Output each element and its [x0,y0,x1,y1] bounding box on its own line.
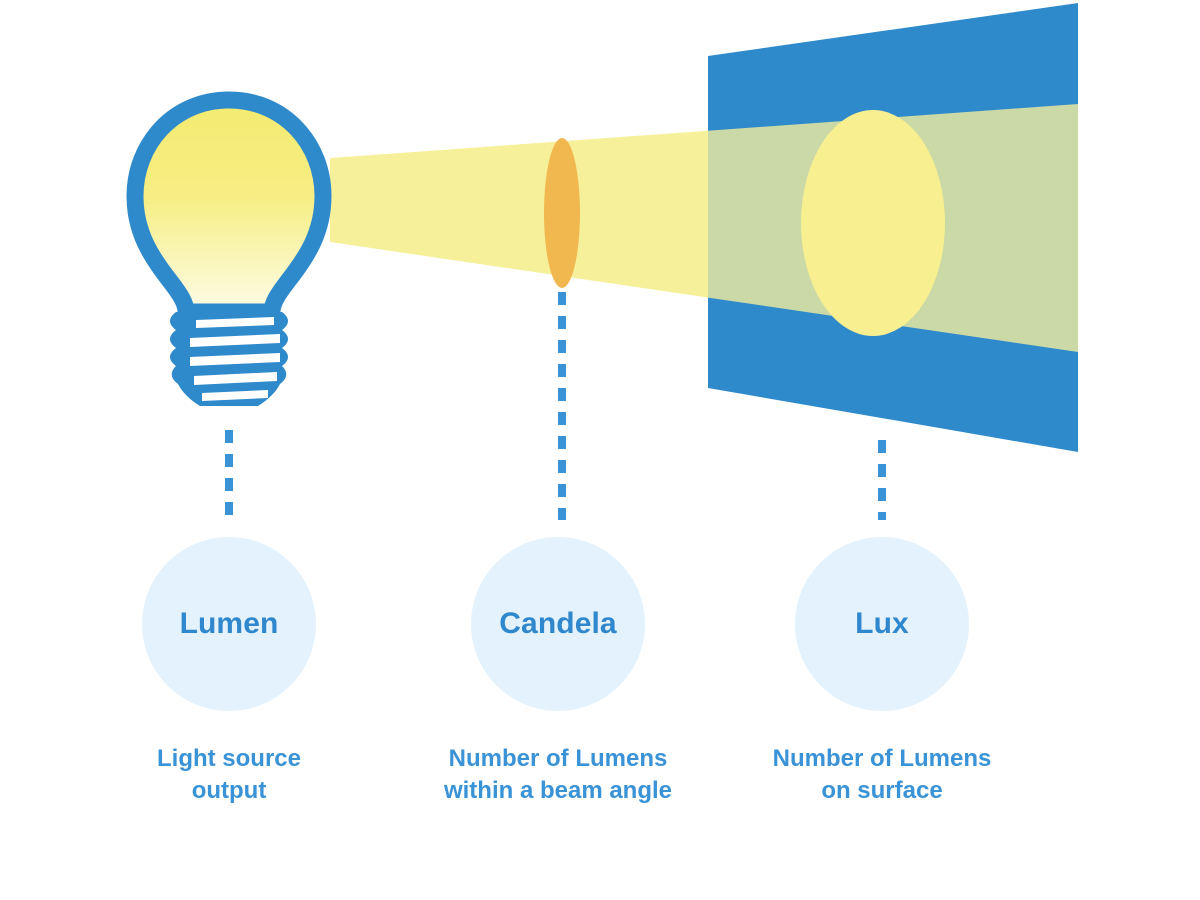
label-group-lumen: Lumen Light source output [79,537,379,806]
caption-line: Number of Lumens [732,743,1032,775]
badge-title-lumen: Lumen [180,609,279,639]
badge-title-lux: Lux [855,609,909,639]
badge-title-candela: Candela [499,609,616,639]
caption-line: Number of Lumens [408,743,708,775]
label-group-lux: Lux Number of Lumens on surface [732,537,1032,806]
diagram-canvas: Lumen Light source output Candela Number… [0,0,1200,900]
caption-lumen: Light source output [79,743,379,806]
caption-candela: Number of Lumens within a beam angle [408,743,708,806]
caption-lux: Number of Lumens on surface [732,743,1032,806]
caption-line: Light source [79,743,379,775]
candela-cross-section [544,138,580,288]
light-bulb [120,90,340,406]
caption-line: output [79,775,379,807]
badge-circle-candela[interactable]: Candela [471,537,645,711]
badge-circle-lumen[interactable]: Lumen [142,537,316,711]
caption-line: on surface [732,775,1032,807]
label-group-candela: Candela Number of Lumens within a beam a… [408,537,708,806]
badge-circle-lux[interactable]: Lux [795,537,969,711]
caption-line: within a beam angle [408,775,708,807]
lux-spot-on-surface [801,110,945,336]
